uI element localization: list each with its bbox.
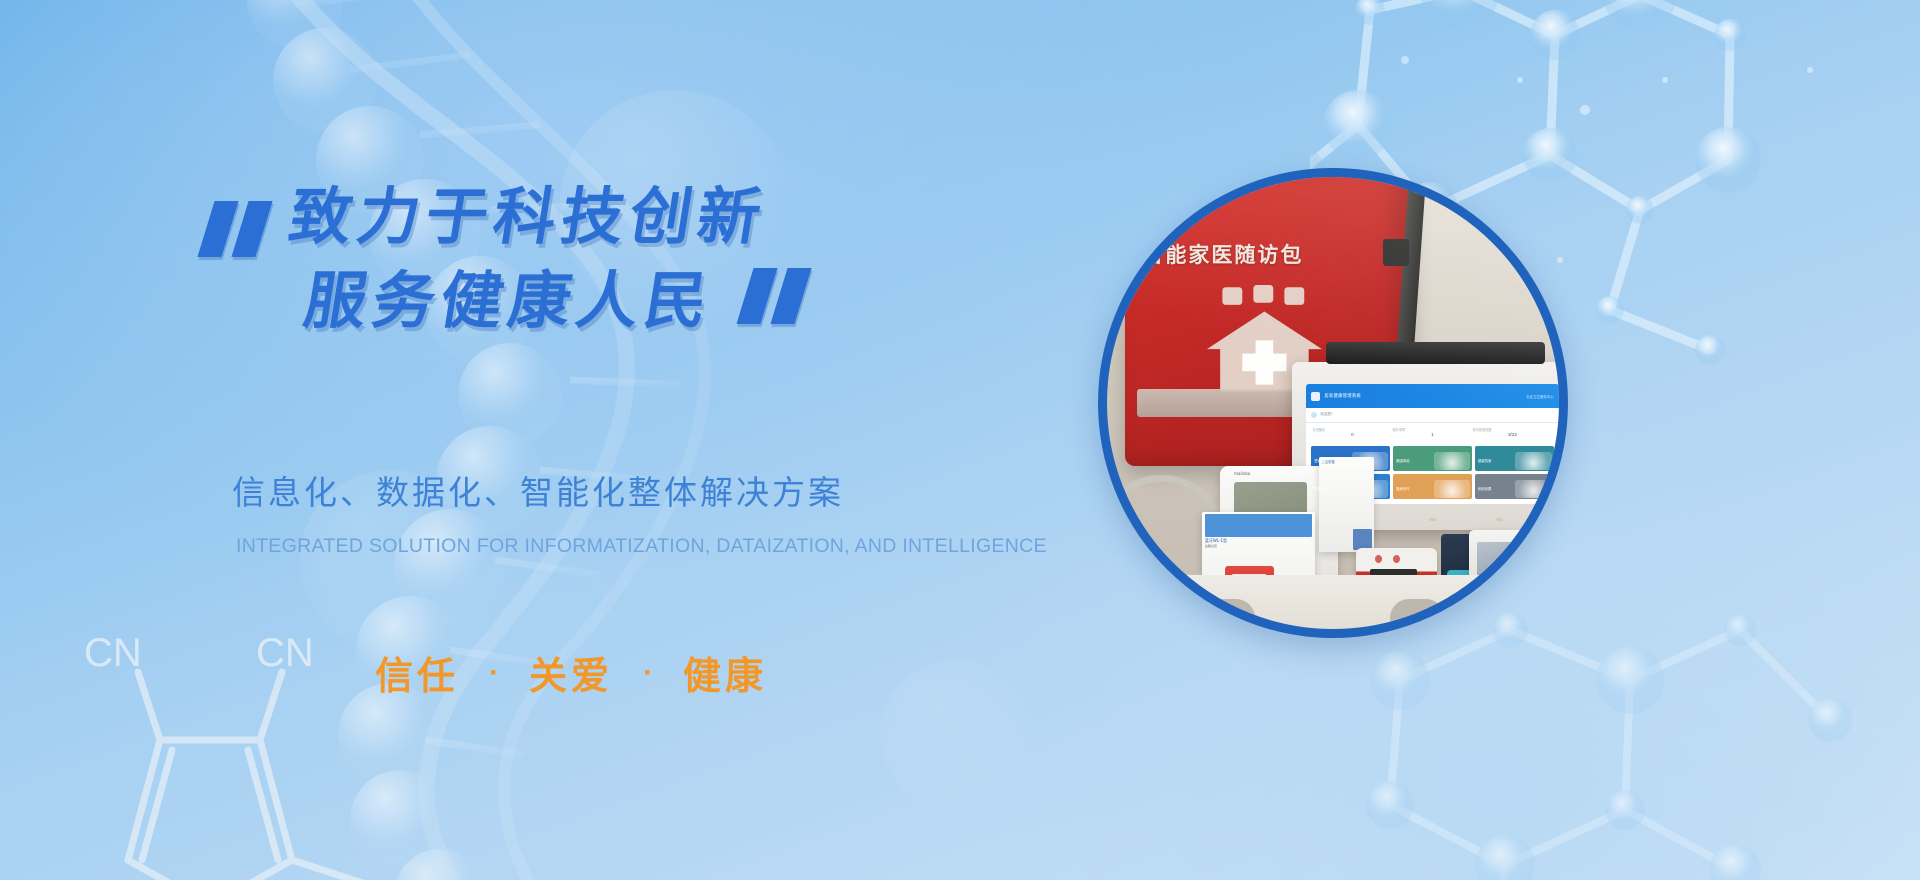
app-card-label: 健康档案 [1478, 459, 1492, 463]
banner-content: 致力于科技创新 服务健康人民 信息化、数据化、智能化整体解决方案 INTEGRA… [0, 0, 1060, 880]
headline-line-2-row: 服务健康人民 [200, 269, 1020, 332]
subtitle-english: INTEGRATED SOLUTION FOR INFORMATIZATION,… [236, 535, 1047, 558]
hero-banner: CN CN 致力于科技创新 服务健康人民 信息化、数据化、智能化整体解决方案 I… [0, 0, 1920, 880]
photo-ring-border [1098, 168, 1568, 638]
open-quote-icon [200, 201, 274, 261]
tagline-separator-dot: · [489, 656, 499, 690]
tagline-separator-dot: · [643, 656, 653, 690]
headline-block: 致力于科技创新 服务健康人民 [200, 185, 1020, 332]
close-quote-icon [739, 268, 813, 328]
tagline-word-health: 健康 [683, 645, 767, 700]
subtitle-chinese: 信息化、数据化、智能化整体解决方案 [232, 466, 844, 514]
app-card-label: 智能随访 [1314, 487, 1328, 491]
headline-line-1-row: 致力于科技创新 [200, 185, 1020, 261]
app-card-label: 慢病诊疗 [1396, 487, 1410, 491]
tagline-word-care: 关爱 [529, 645, 613, 700]
hero-photo: 智能家医随访包 [1098, 168, 1568, 638]
app-card-label: 系统设置 [1478, 487, 1492, 491]
app-card-label: 健康体检 [1396, 459, 1410, 463]
tagline-row: 信任 · 关爱 · 健康 [375, 645, 767, 700]
headline-line-2: 服务健康人民 [300, 269, 718, 332]
app-card-label: 签约服务 [1314, 459, 1328, 463]
headline-line-1: 致力于科技创新 [285, 185, 771, 248]
tagline-word-trust: 信任 [375, 645, 459, 700]
